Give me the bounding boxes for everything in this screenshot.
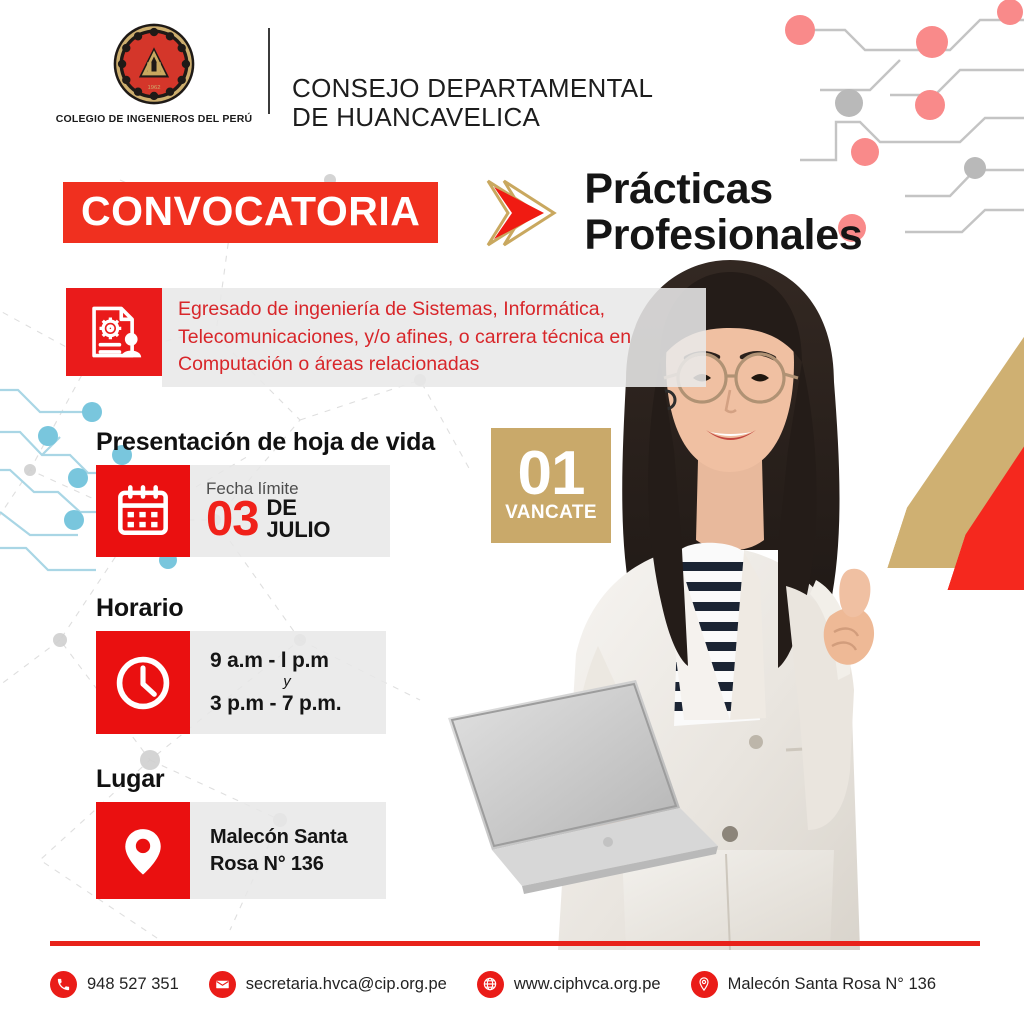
contact-email-text: secretaria.hvca@cip.org.pe <box>246 975 447 994</box>
council-name: CONSEJO DEPARTAMENTAL DE HUANCAVELICA <box>292 22 653 132</box>
globe-icon <box>477 971 504 998</box>
vacancy-count: 01 <box>518 447 585 502</box>
contact-address[interactable]: Malecón Santa Rosa N° 136 <box>691 971 936 998</box>
calendar-icon <box>96 465 190 557</box>
section-place-content: Malecón Santa Rosa N° 136 <box>190 802 386 899</box>
contact-website[interactable]: www.ciphvca.org.pe <box>477 971 661 998</box>
poster-root: 1962 COLEGIO DE INGENIEROS DEL PERÚ CONS… <box>0 0 1024 1024</box>
requirement-paragraph: Egresado de ingeniería de Sistemas, Info… <box>178 296 692 379</box>
section-date: Presentación de hoja de vida <box>96 428 435 557</box>
section-schedule-title: Horario <box>96 594 386 623</box>
title-line-2: Profesionales <box>584 213 862 259</box>
emblem-year-text: 1962 <box>147 85 160 91</box>
section-place-title: Lugar <box>96 765 386 794</box>
vacancy-badge: 01 VANCATE <box>491 428 611 543</box>
contact-website-text: www.ciphvca.org.pe <box>514 975 661 994</box>
footer-divider <box>50 941 980 946</box>
schedule-line-1: 9 a.m - l p.m <box>210 648 364 674</box>
place-line-2: Rosa N° 136 <box>210 851 364 877</box>
map-pin-icon <box>691 971 718 998</box>
brand-header: 1962 COLEGIO DE INGENIEROS DEL PERÚ CONS… <box>48 22 653 132</box>
cip-emblem-icon: 1962 <box>112 22 196 106</box>
vacancy-label: VANCATE <box>505 502 597 524</box>
council-line-2: DE HUANCAVELICA <box>292 103 653 132</box>
page-title: Prácticas Profesionales <box>584 167 862 258</box>
header-divider <box>268 28 270 114</box>
section-schedule-content: 9 a.m - l p.m y 3 p.m - 7 p.m. <box>190 631 386 734</box>
requirement-block: Egresado de ingeniería de Sistemas, Info… <box>66 288 706 387</box>
contact-phone[interactable]: 948 527 351 <box>50 971 179 998</box>
deadline-day: 03 <box>206 497 259 542</box>
title-line-1: Prácticas <box>584 167 862 213</box>
contact-email[interactable]: secretaria.hvca@cip.org.pe <box>209 971 447 998</box>
deadline-month: DE JULIO <box>267 497 331 542</box>
council-line-1: CONSEJO DEPARTAMENTAL <box>292 74 653 103</box>
section-date-content: Fecha límite 03 DE JULIO <box>190 465 390 557</box>
place-line-1: Malecón Santa <box>210 824 364 850</box>
requirement-text: Egresado de ingeniería de Sistemas, Info… <box>162 288 706 387</box>
chevron-right-icon <box>478 173 564 253</box>
schedule-conjunction: y <box>210 674 364 691</box>
logo-caption: COLEGIO DE INGENIEROS DEL PERÚ <box>56 113 253 125</box>
email-icon <box>209 971 236 998</box>
headline-row: CONVOCATORIA Prácticas Profesionales <box>63 167 862 258</box>
schedule-line-2: 3 p.m - 7 p.m. <box>210 691 364 717</box>
contact-address-text: Malecón Santa Rosa N° 136 <box>728 975 936 994</box>
convocatoria-banner: CONVOCATORIA <box>63 182 438 243</box>
phone-icon <box>50 971 77 998</box>
map-pin-icon <box>96 802 190 899</box>
logo-block: 1962 COLEGIO DE INGENIEROS DEL PERÚ <box>48 22 260 125</box>
deadline-month-prefix: DE <box>267 497 331 519</box>
contact-footer: 948 527 351 secretaria.hvca@cip.org.pe w… <box>50 960 985 1008</box>
section-date-title: Presentación de hoja de vida <box>96 428 435 457</box>
section-schedule: Horario 9 a.m - l p.m y 3 p.m - 7 p.m. <box>96 594 386 734</box>
section-place: Lugar Malecón Santa Rosa N° 136 <box>96 765 386 899</box>
contact-phone-text: 948 527 351 <box>87 975 179 994</box>
document-gear-person-icon <box>66 288 162 376</box>
deadline-month-name: JULIO <box>267 519 331 541</box>
clock-icon <box>96 631 190 734</box>
